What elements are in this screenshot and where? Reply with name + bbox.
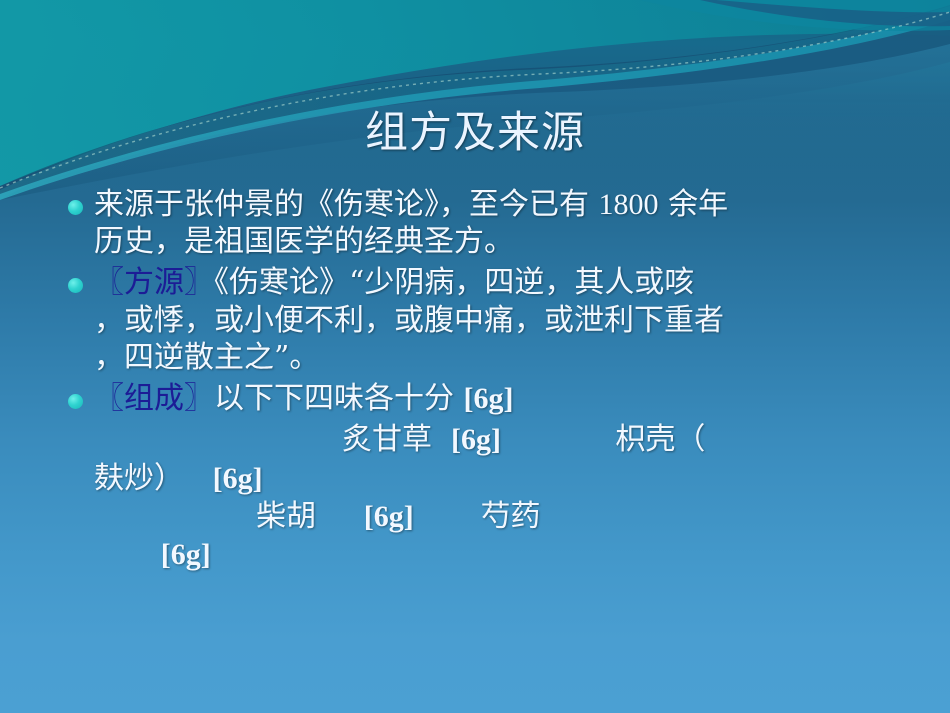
ingredient-line-1: 炙甘草 [6g] 枳壳（	[94, 421, 934, 459]
slide-body: 来源于张仲景的《伤寒论》，至今已有 1800 余年 历史，是祖国医学的经典圣方。…	[68, 186, 934, 575]
bullet-fangyuan-line2: ，或悸，或小便不利，或腹中痛，或泄利下重者	[94, 302, 934, 339]
bullet-fangyuan-line3: ，四逆散主之”。	[94, 339, 934, 376]
bullet-dot-icon	[68, 200, 83, 215]
fangyuan-quote-start: 《伤寒论》“少阴病，四逆，其人或咳	[214, 265, 694, 300]
bullet-fangyuan-line1: 〖方源〗《伤寒论》“少阴病，四逆，其人或咳	[94, 264, 934, 301]
zucheng-tag-label: 〖组成〗	[94, 381, 214, 416]
bullet-dot-icon	[68, 394, 83, 409]
bullet-source-text: 来源于张仲景的《伤寒论》，至今已有 1800 余年 历史，是祖国医学的经典圣方。	[94, 186, 934, 260]
bullet-source-line2: 历史，是祖国医学的经典圣方。	[94, 223, 934, 260]
bullet-item-zucheng: 〖组成〗以下下四味各十分 [6g]	[68, 380, 934, 417]
bullet-zucheng-line1: 〖组成〗以下下四味各十分 [6g]	[94, 380, 934, 417]
decorative-wave-graphic	[0, 0, 950, 200]
bullet-dot-icon	[68, 278, 83, 293]
fangyuan-tag-label: 〖方源〗	[94, 265, 214, 300]
ingredient-line-4: [6g]	[94, 536, 934, 574]
bullet-item-fangyuan: 〖方源〗《伤寒论》“少阴病，四逆，其人或咳 ，或悸，或小便不利，或腹中痛，或泄利…	[68, 264, 934, 376]
bullet-source-line1: 来源于张仲景的《伤寒论》，至今已有 1800 余年	[94, 186, 934, 223]
bullet-zucheng-text: 〖组成〗以下下四味各十分 [6g]	[94, 380, 934, 417]
ingredient-line-3: 柴胡 [6g] 芍药	[94, 498, 934, 536]
bullet-fangyuan-text: 〖方源〗《伤寒论》“少阴病，四逆，其人或咳 ，或悸，或小便不利，或腹中痛，或泄利…	[94, 264, 934, 376]
ingredient-line-2: 麸炒） [6g]	[94, 460, 934, 498]
presentation-slide: 组方及来源 来源于张仲景的《伤寒论》，至今已有 1800 余年 历史，是祖国医学…	[0, 0, 950, 713]
bullet-item-source: 来源于张仲景的《伤寒论》，至今已有 1800 余年 历史，是祖国医学的经典圣方。	[68, 186, 934, 260]
slide-title: 组方及来源	[0, 110, 950, 157]
zucheng-rest-label: 以下下四味各十分 [6g]	[214, 381, 514, 416]
